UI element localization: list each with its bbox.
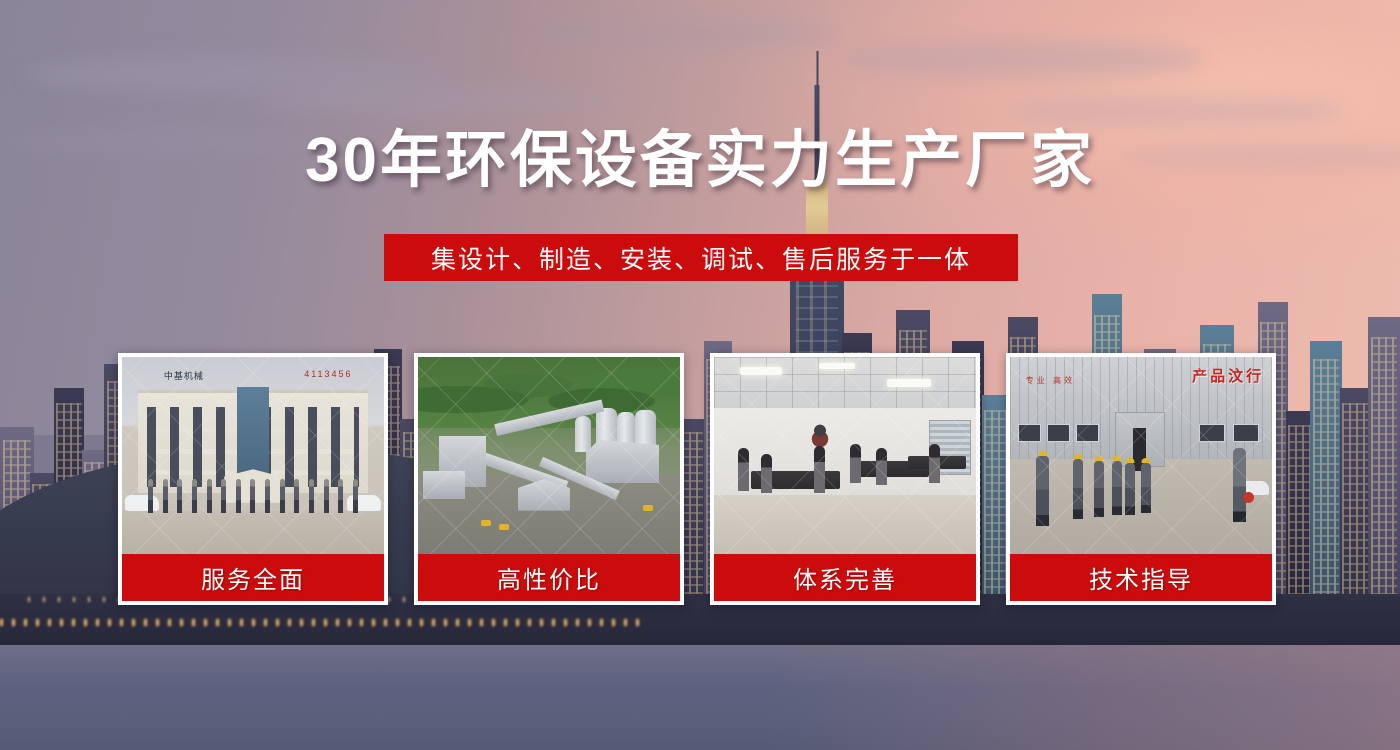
factory-sign-text: 产品汶行 <box>1192 365 1264 386</box>
factory-slogan-text: 专业 高效 <box>1026 375 1075 386</box>
hero-banner: 30年环保设备实力生产厂家 集设计、制造、安装、调试、售后服务于一体 中基机械 … <box>0 0 1400 750</box>
cloud <box>840 39 1204 79</box>
cloud <box>1008 96 1344 126</box>
office-interior-photo <box>714 357 976 554</box>
feature-card[interactable]: 产品汶行 专业 高效 技术指导 <box>1006 353 1276 605</box>
subtitle-text: 集设计、制造、安装、调试、售后服务于一体 <box>431 240 971 276</box>
page-title: 30年环保设备实力生产厂家 <box>0 130 1400 192</box>
feature-card-label: 体系完善 <box>714 554 976 601</box>
cloud <box>28 57 448 91</box>
building-phone-text: 4113456 <box>304 369 352 379</box>
feature-card[interactable]: 高性价比 <box>414 353 684 605</box>
cloud <box>252 87 616 113</box>
red-helmet <box>1243 492 1254 503</box>
building-sign-text: 中基机械 <box>164 369 204 382</box>
company-headquarters-photo: 中基机械 4113456 <box>122 357 384 554</box>
feature-card-list: 中基机械 4113456 服务全面 <box>118 353 1276 605</box>
feature-card[interactable]: 体系完善 <box>710 353 980 605</box>
feature-card-label: 服务全面 <box>122 554 384 601</box>
feature-card[interactable]: 中基机械 4113456 服务全面 <box>118 353 388 605</box>
aerial-plant-photo <box>418 357 680 554</box>
water-reflection <box>0 645 1400 750</box>
cloud <box>532 22 840 46</box>
feature-card-label: 高性价比 <box>418 554 680 601</box>
workers-training-photo: 产品汶行 专业 高效 <box>1010 357 1272 554</box>
street-lights <box>0 619 644 626</box>
subtitle-banner: 集设计、制造、安装、调试、售后服务于一体 <box>384 234 1018 281</box>
feature-card-label: 技术指导 <box>1010 554 1272 601</box>
river-water <box>0 645 1400 750</box>
